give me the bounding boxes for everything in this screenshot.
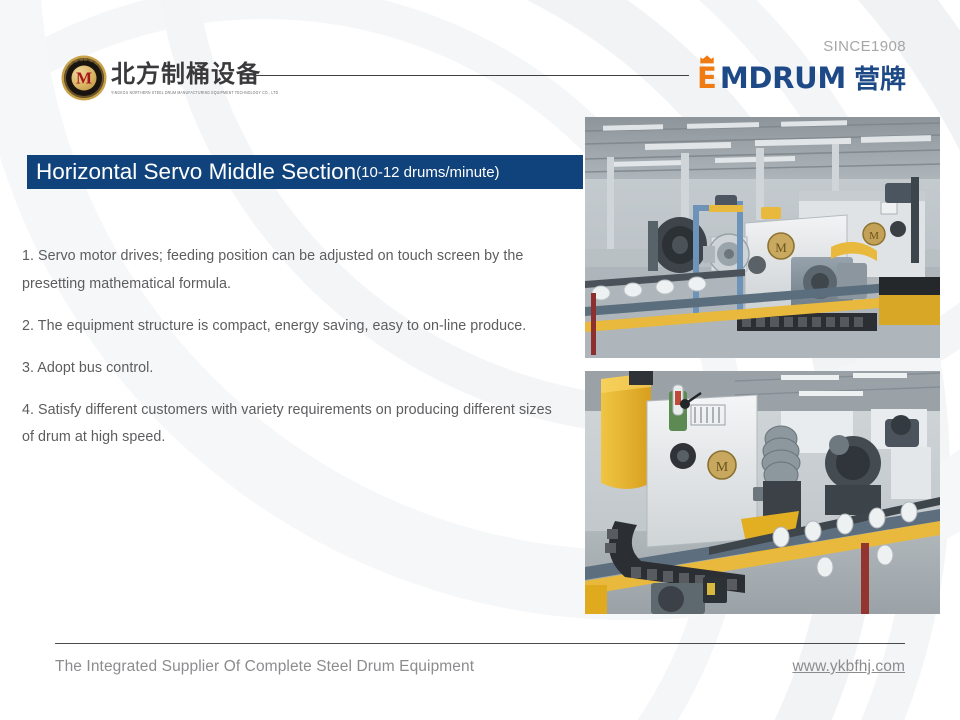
feature-list: 1. Servo motor drives; feeding position … bbox=[22, 243, 552, 452]
slide-root: M 北方制桶设备 YINGKOU NORTHERN STEEL DRUM MAN… bbox=[0, 0, 960, 720]
footer-tagline: The Integrated Supplier Of Complete Stee… bbox=[55, 658, 474, 676]
feature-item: 4. Satisfy different customers with vari… bbox=[22, 397, 552, 453]
brand-name-cn: 营牌 bbox=[854, 67, 906, 93]
footer-divider bbox=[55, 643, 905, 644]
section-title-bar: Horizontal Servo Middle Section (10-12 d… bbox=[27, 155, 583, 189]
page-header: M 北方制桶设备 YINGKOU NORTHERN STEEL DRUM MAN… bbox=[0, 0, 960, 112]
seal-inner-disc: M bbox=[72, 66, 97, 91]
seal-letter: M bbox=[76, 69, 92, 86]
servo-section-closeup-illustration: M bbox=[585, 371, 940, 614]
brand-name: MDRUM bbox=[720, 64, 846, 93]
company-name-en-sub: YINGKOU NORTHERN STEEL DRUM MANUFACTURIN… bbox=[111, 90, 278, 95]
factory-line-illustration: M M bbox=[585, 117, 940, 358]
seal-medallion-icon: M bbox=[64, 58, 104, 98]
feature-item: 1. Servo motor drives; feeding position … bbox=[22, 243, 552, 299]
feature-item: 2. The equipment structure is compact, e… bbox=[22, 313, 552, 341]
brand-initial: E bbox=[697, 64, 717, 93]
drum-crown-icon bbox=[699, 55, 714, 64]
since-label: SINCE1908 bbox=[823, 38, 906, 55]
footer-website-link[interactable]: www.ykbfhj.com bbox=[792, 658, 905, 676]
photo-bottom-content: M bbox=[585, 371, 940, 614]
photo-top-content: M M bbox=[585, 117, 940, 358]
brand-initial-wrap: E bbox=[697, 64, 717, 93]
page-title: Horizontal Servo Middle Section bbox=[36, 161, 356, 184]
svg-text:M: M bbox=[869, 230, 879, 242]
svg-text:M: M bbox=[716, 460, 729, 475]
company-name-block: 北方制桶设备 YINGKOU NORTHERN STEEL DRUM MANUF… bbox=[111, 62, 278, 93]
machine-photo-bottom: M bbox=[585, 371, 940, 614]
company-logo: M 北方制桶设备 YINGKOU NORTHERN STEEL DRUM MAN… bbox=[64, 58, 278, 98]
header-divider bbox=[253, 75, 689, 76]
page-title-subtitle: (10-12 drums/minute) bbox=[356, 165, 499, 180]
machine-photo-top: M M bbox=[585, 117, 940, 358]
svg-text:M: M bbox=[775, 240, 787, 255]
emdrum-brand-logo: E MDRUM 营牌 bbox=[697, 64, 906, 93]
feature-item: 3. Adopt bus control. bbox=[22, 355, 552, 383]
